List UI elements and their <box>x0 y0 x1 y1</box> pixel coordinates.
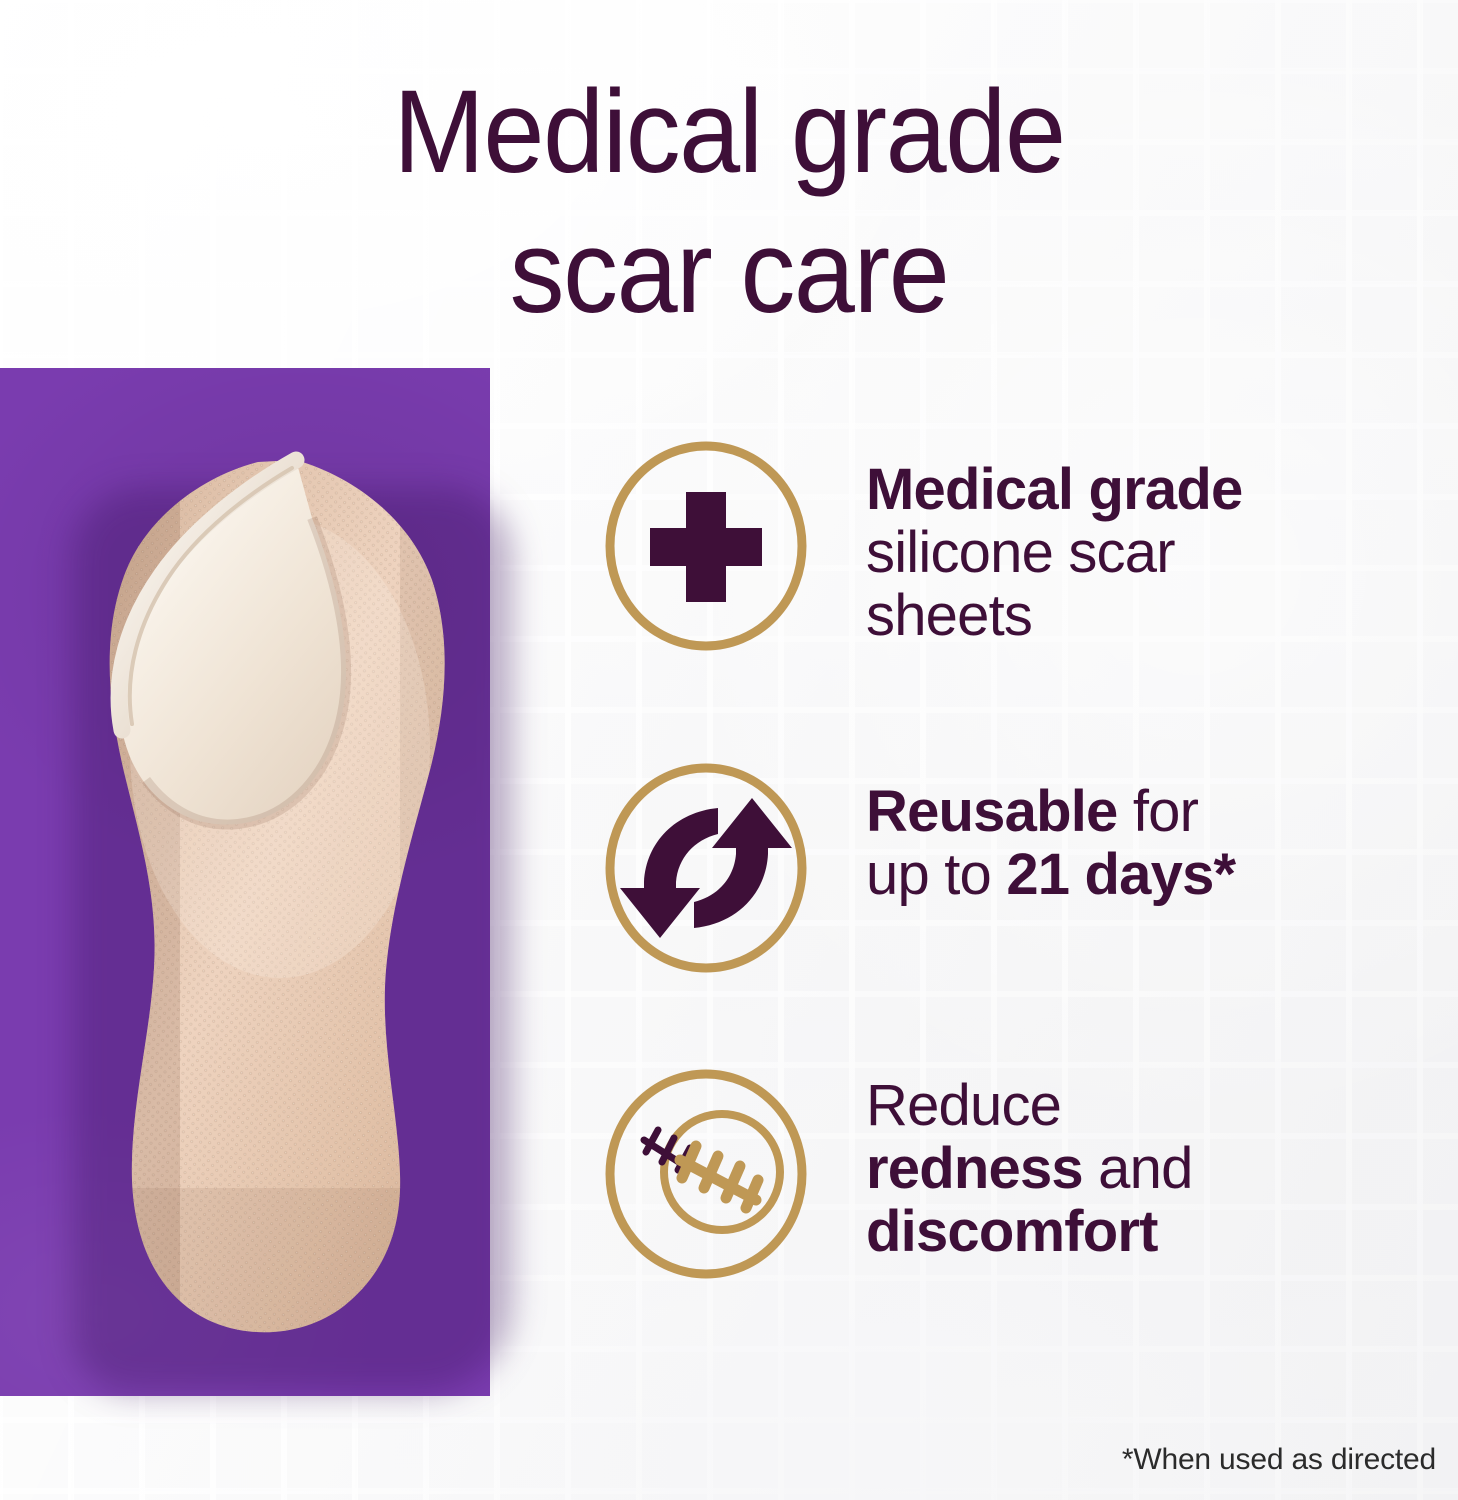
footnote-disclaimer: *When used as directed <box>1122 1442 1436 1478</box>
medical-cross-icon <box>600 440 812 652</box>
feature-2-regular2: up to <box>866 842 1006 907</box>
feature-3-bold2: discomfort <box>866 1199 1158 1264</box>
feature-3-regular2: and <box>1083 1136 1193 1201</box>
feature-text-medical-grade: Medical grade silicone scar sheets <box>866 440 1242 647</box>
feature-1-line3: sheets <box>866 583 1032 648</box>
reuse-arrows-icon <box>600 762 812 974</box>
feature-2-regular1: for <box>1118 779 1199 844</box>
scar-magnify-icon <box>600 1068 812 1280</box>
feature-item-reusable: Reusable for up to 21 days* <box>600 762 1235 974</box>
feature-2-bold2: 21 days* <box>1006 842 1235 907</box>
feature-2-bold1: Reusable <box>866 779 1118 844</box>
feature-3-bold1: redness <box>866 1136 1083 1201</box>
product-panel <box>0 368 490 1396</box>
feature-1-line1: Medical grade <box>866 457 1242 522</box>
feature-item-medical-grade: Medical grade silicone scar sheets <box>600 440 1242 652</box>
feature-3-regular1: Reduce <box>866 1073 1061 1138</box>
feature-text-reusable: Reusable for up to 21 days* <box>866 762 1235 906</box>
page-title: Medical grade scar care <box>51 62 1407 342</box>
feature-text-reduce-redness: Reduce redness and discomfort <box>866 1068 1193 1263</box>
feature-item-reduce-redness: Reduce redness and discomfort <box>600 1068 1193 1280</box>
feature-1-line2: silicone scar <box>866 520 1175 585</box>
product-feature-image: Medical grade scar care <box>0 0 1458 1500</box>
